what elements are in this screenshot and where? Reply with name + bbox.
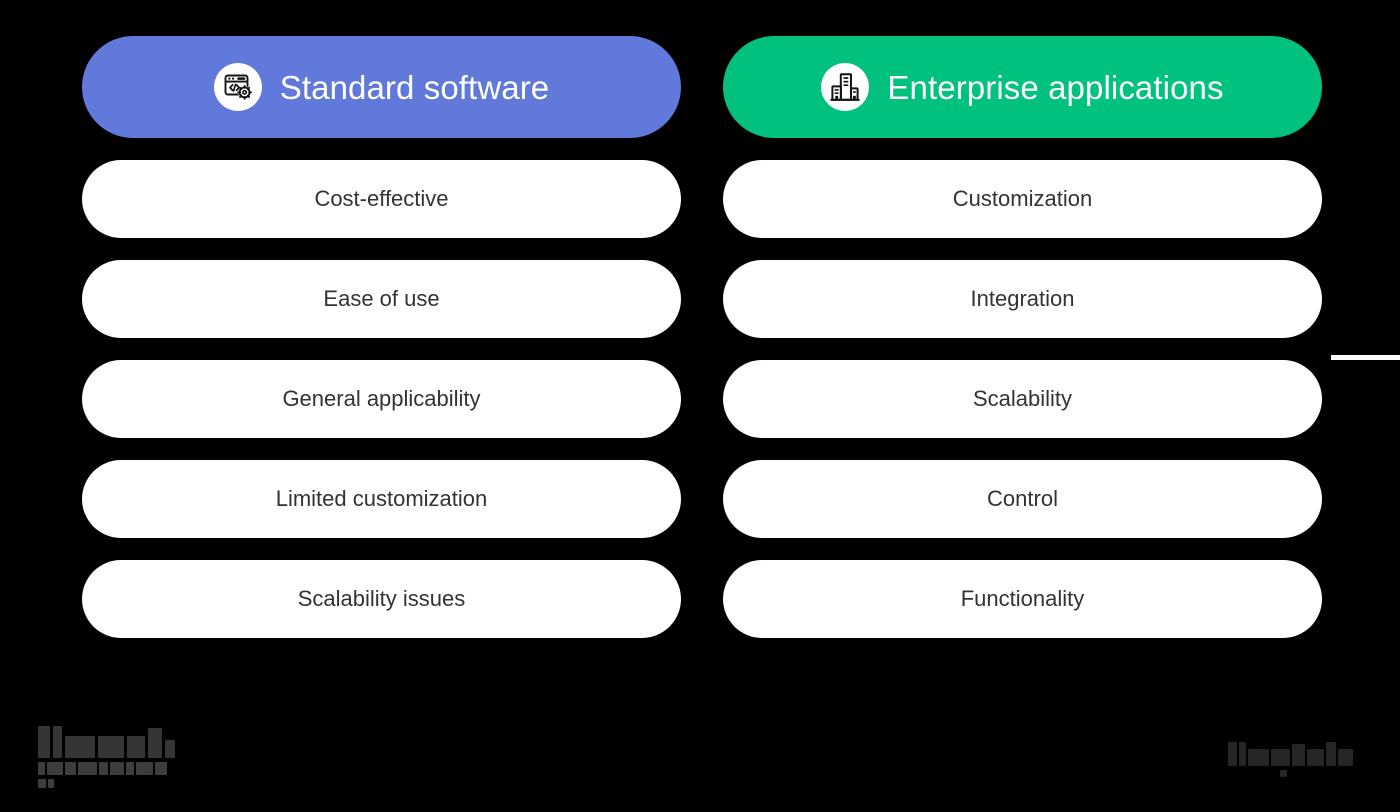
list-item-label: Limited customization	[276, 488, 488, 510]
infographic-board: Standard software Cost-effective Ease of…	[0, 0, 1400, 812]
list-item-label: Cost-effective	[314, 188, 448, 210]
header-title-standard-software: Standard software	[280, 71, 550, 104]
list-item[interactable]: Control	[723, 460, 1322, 538]
header-pill-enterprise-applications[interactable]: Enterprise applications	[723, 36, 1322, 138]
list-item[interactable]: Limited customization	[82, 460, 681, 538]
column-standard-software: Standard software Cost-effective Ease of…	[82, 36, 681, 638]
column-enterprise-applications: Enterprise applications Customization In…	[723, 36, 1322, 638]
list-item-label: General applicability	[282, 388, 480, 410]
watermark-bottom-left	[38, 726, 175, 792]
list-item-label: Ease of use	[323, 288, 439, 310]
list-item-label: Control	[987, 488, 1058, 510]
list-item[interactable]: Ease of use	[82, 260, 681, 338]
watermark-bottom-right	[1228, 742, 1353, 781]
list-item[interactable]: Scalability	[723, 360, 1322, 438]
list-item-label: Integration	[971, 288, 1075, 310]
list-item-label: Scalability	[973, 388, 1072, 410]
comparison-columns: Standard software Cost-effective Ease of…	[82, 36, 1322, 638]
list-item-label: Scalability issues	[298, 588, 466, 610]
list-item[interactable]: General applicability	[82, 360, 681, 438]
list-item[interactable]: Scalability issues	[82, 560, 681, 638]
list-item-label: Customization	[953, 188, 1092, 210]
list-item[interactable]: Functionality	[723, 560, 1322, 638]
code-window-gear-icon	[214, 63, 262, 111]
office-buildings-icon	[821, 63, 869, 111]
header-pill-standard-software[interactable]: Standard software	[82, 36, 681, 138]
header-title-enterprise-applications: Enterprise applications	[887, 71, 1223, 104]
list-item[interactable]: Cost-effective	[82, 160, 681, 238]
list-item[interactable]: Customization	[723, 160, 1322, 238]
list-item-label: Functionality	[961, 588, 1085, 610]
compression-artifact	[1331, 355, 1400, 360]
list-item[interactable]: Integration	[723, 260, 1322, 338]
